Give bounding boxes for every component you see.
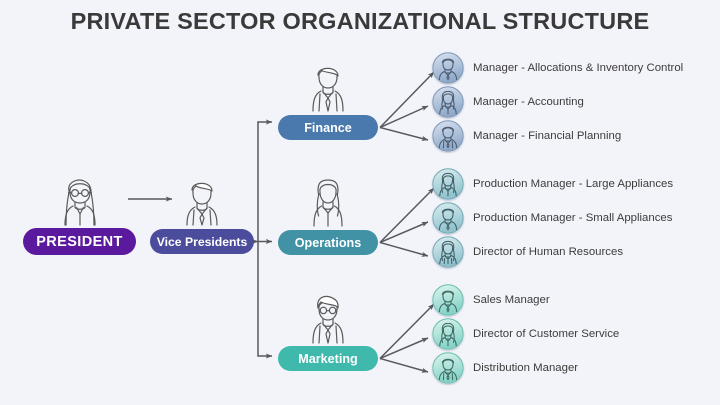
avatar-finance-3 [432,120,464,152]
report-item[interactable]: Sales Manager [432,284,550,316]
node-department-marketing[interactable]: Marketing [278,346,378,371]
org-chart-canvas: PRIVATE SECTOR ORGANIZATIONAL STRUCTURE [0,0,720,405]
report-label: Director of Customer Service [473,328,619,340]
report-label: Production Manager - Small Appliances [473,212,672,224]
avatar-operations-1 [432,168,464,200]
page-title: PRIVATE SECTOR ORGANIZATIONAL STRUCTURE [0,8,720,35]
avatar-operations-3 [432,236,464,268]
report-item[interactable]: Director of Customer Service [432,318,619,350]
report-label: Sales Manager [473,294,550,306]
avatar-marketing-3 [432,352,464,384]
report-label: Production Manager - Large Appliances [473,178,673,190]
report-item[interactable]: Manager - Allocations & Inventory Contro… [432,52,683,84]
finance-figure [300,60,356,112]
node-president[interactable]: PRESIDENT [23,228,136,255]
report-item[interactable]: Manager - Financial Planning [432,120,621,152]
report-item[interactable]: Director of Human Resources [432,236,623,268]
avatar-marketing-1 [432,284,464,316]
operations-figure [300,175,356,227]
report-item[interactable]: Manager - Accounting [432,86,584,118]
report-item[interactable]: Distribution Manager [432,352,578,384]
report-label: Manager - Financial Planning [473,130,621,142]
node-vice-presidents[interactable]: Vice Presidents [150,229,254,254]
node-department-operations[interactable]: Operations [278,230,378,255]
avatar-finance-2 [432,86,464,118]
avatar-finance-1 [432,52,464,84]
marketing-figure [300,292,356,344]
report-label: Distribution Manager [473,362,578,374]
avatar-operations-2 [432,202,464,234]
node-department-finance[interactable]: Finance [278,115,378,140]
report-label: Director of Human Resources [473,246,623,258]
report-label: Manager - Accounting [473,96,584,108]
president-figure [54,172,106,226]
report-label: Manager - Allocations & Inventory Contro… [473,62,683,74]
report-item[interactable]: Production Manager - Large Appliances [432,168,673,200]
vice-presidents-figure [176,172,228,226]
avatar-marketing-2 [432,318,464,350]
report-item[interactable]: Production Manager - Small Appliances [432,202,672,234]
